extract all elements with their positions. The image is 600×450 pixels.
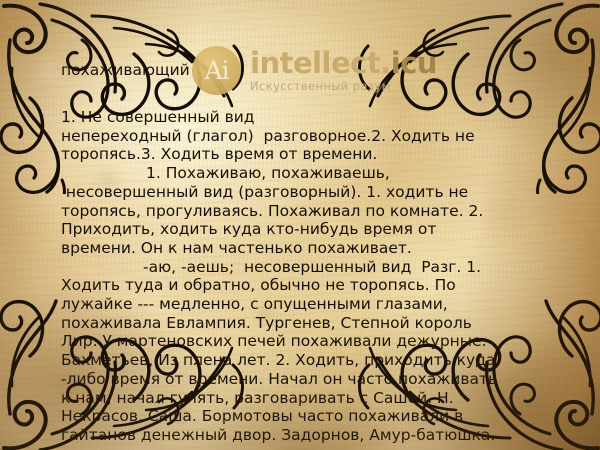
slide-canvas: Ai intellect.icu Искусственный разум пох… [0,0,600,450]
definition-line: непереходный (глагол) разговорное.2. Ход… [61,127,600,146]
definition-line: к нам, начал гулять, разговаривать с Саш… [61,389,600,408]
definition-line: -либо время от времени. Начал он часто п… [61,370,600,389]
definition-line: Некрасов, Саша. Бормотовы часто похажива… [61,407,600,426]
definition-line: Бахметьев, Из плена лет. 2. Ходить, прих… [61,351,600,370]
definition-line: Приходить, ходить куда кто-нибудь время … [61,220,600,239]
definition-line: лужайке --- медленно, с опущенными глаза… [61,295,600,314]
definition-line: торопясь, прогуливаясь. Похаживал по ком… [61,202,600,221]
definition-line: похаживала Евлампия. Тургенев, Степной к… [61,314,600,333]
definition-line: несовершенный вид (разговорный). 1. ходи… [61,183,600,202]
definition-line: -аю, -аешь; несовершенный вид Разг. 1. [61,258,600,277]
page-title: похаживающий [61,61,190,80]
definition-line: Ходить туда и обратно, обычно не торопяс… [61,276,600,295]
definition-line: 1. Не совершенный вид [61,108,600,127]
definition-body: 1. Не совершенный виднепереходный (глаго… [61,108,600,445]
definition-line: Лир. У мартеновских печей похаживали деж… [61,332,600,351]
definition-line: 1. Похаживаю, похаживаешь, [61,164,600,183]
definition-line: гайтанов денежный двор. Задорнов, Амур-б… [61,426,600,445]
definition-line: времени. Он к нам частенько похаживает. [61,239,600,258]
definition-line: торопясь.3. Ходить время от времени. [61,145,600,164]
slide-content: похаживающий 1. Не совершенный виднепере… [0,0,600,450]
